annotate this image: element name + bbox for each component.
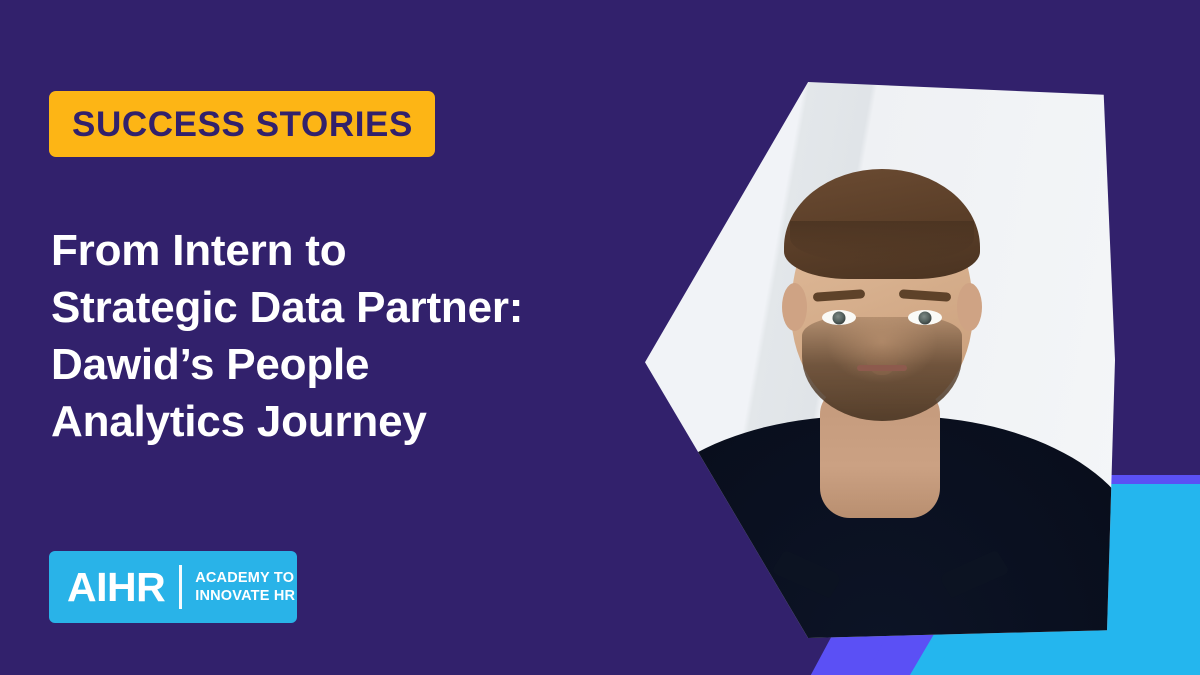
hair bbox=[784, 169, 980, 279]
logo-wordmark: AIHR bbox=[67, 567, 165, 608]
mouth bbox=[857, 365, 907, 371]
polo-collar-left bbox=[771, 550, 843, 598]
eyebrow-right bbox=[899, 289, 952, 302]
ear-left bbox=[782, 283, 807, 331]
success-stories-badge: SUCCESS STORIES bbox=[49, 91, 435, 157]
logo-tagline: ACADEMY TO INNOVATE HR bbox=[195, 569, 295, 605]
portrait-hexagon bbox=[645, 82, 1115, 638]
portrait-photo bbox=[645, 82, 1115, 638]
logo-divider bbox=[179, 565, 182, 609]
ear-right bbox=[957, 283, 982, 331]
badge-label: SUCCESS STORIES bbox=[72, 107, 413, 142]
eye-right bbox=[908, 310, 942, 325]
aihr-logo[interactable]: AIHR ACADEMY TO INNOVATE HR bbox=[49, 551, 297, 623]
eyebrow-left bbox=[813, 289, 866, 302]
success-story-banner: SUCCESS STORIES From Intern to Strategic… bbox=[0, 0, 1200, 675]
portrait-head bbox=[791, 179, 973, 415]
page-title: From Intern to Strategic Data Partner: D… bbox=[51, 222, 651, 450]
eye-left bbox=[822, 310, 856, 325]
content-column: SUCCESS STORIES From Intern to Strategic… bbox=[49, 0, 649, 675]
polo-collar-right bbox=[938, 550, 1010, 598]
